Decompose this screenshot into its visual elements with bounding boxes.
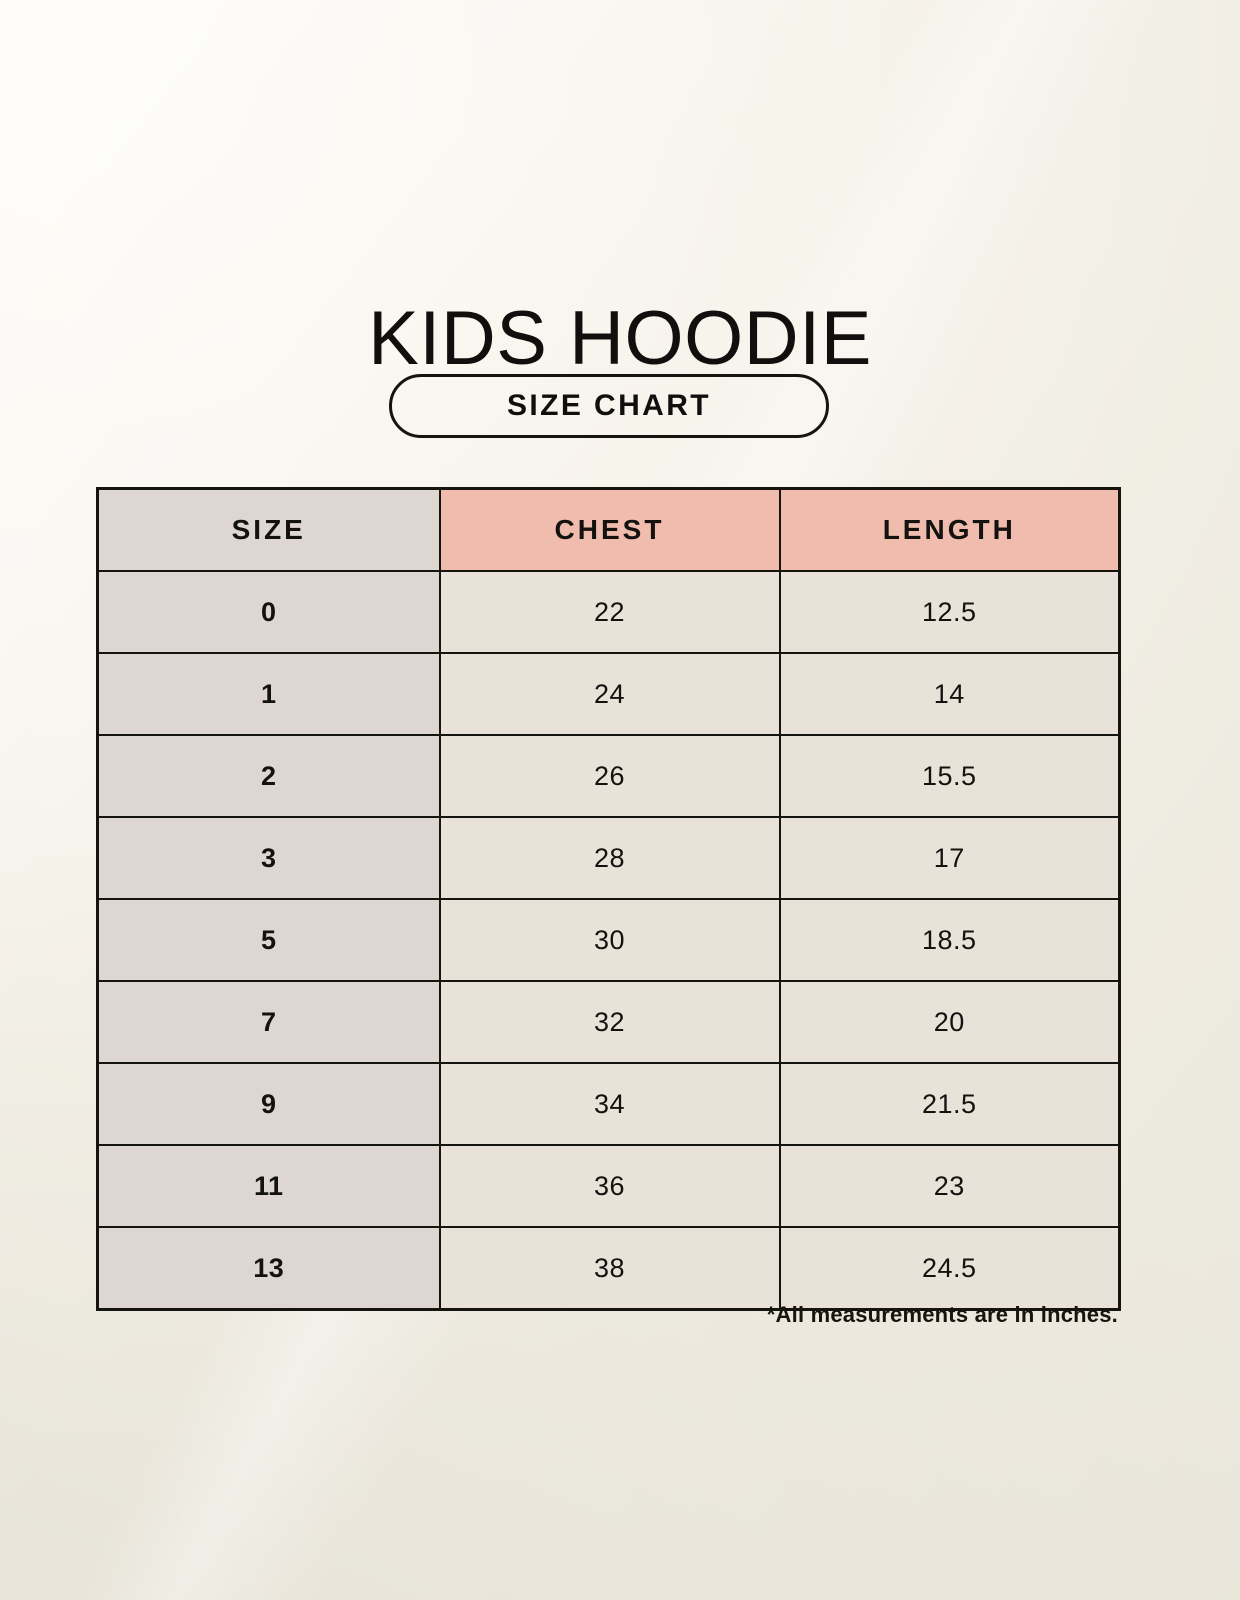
cell-length: 24.5	[780, 1227, 1120, 1310]
cell-chest: 32	[440, 981, 780, 1063]
measurement-unit-footnote: *All measurements are in inches.	[96, 1302, 1118, 1328]
table-row: 2 26 15.5	[98, 735, 1120, 817]
cell-chest: 24	[440, 653, 780, 735]
table-row: 0 22 12.5	[98, 571, 1120, 653]
cell-size: 7	[98, 981, 440, 1063]
cell-chest: 34	[440, 1063, 780, 1145]
column-header-size: SIZE	[98, 489, 440, 572]
cell-chest: 36	[440, 1145, 780, 1227]
cell-size: 5	[98, 899, 440, 981]
table-row: 3 28 17	[98, 817, 1120, 899]
cell-length: 21.5	[780, 1063, 1120, 1145]
size-table-header: SIZE CHEST LENGTH	[98, 489, 1120, 572]
cell-chest: 28	[440, 817, 780, 899]
cell-length: 14	[780, 653, 1120, 735]
cell-length: 23	[780, 1145, 1120, 1227]
cell-size: 2	[98, 735, 440, 817]
table-row: 9 34 21.5	[98, 1063, 1120, 1145]
cell-chest: 30	[440, 899, 780, 981]
cell-length: 18.5	[780, 899, 1120, 981]
size-chart-pill-label: SIZE CHART	[507, 389, 711, 423]
page-title: KIDS HOODIE	[0, 295, 1240, 383]
cell-length: 15.5	[780, 735, 1120, 817]
column-header-length: LENGTH	[780, 489, 1120, 572]
cell-chest: 26	[440, 735, 780, 817]
size-table-body: 0 22 12.5 1 24 14 2 26 15.5 3 28 17	[98, 571, 1120, 1310]
cell-length: 20	[780, 981, 1120, 1063]
column-header-chest: CHEST	[440, 489, 780, 572]
cell-size: 1	[98, 653, 440, 735]
cell-chest: 22	[440, 571, 780, 653]
cell-size: 9	[98, 1063, 440, 1145]
table-header-row: SIZE CHEST LENGTH	[98, 489, 1120, 572]
cell-size: 3	[98, 817, 440, 899]
cell-size: 13	[98, 1227, 440, 1310]
cell-length: 17	[780, 817, 1120, 899]
table-row: 13 38 24.5	[98, 1227, 1120, 1310]
cell-size: 11	[98, 1145, 440, 1227]
cell-chest: 38	[440, 1227, 780, 1310]
table-row: 1 24 14	[98, 653, 1120, 735]
cell-size: 0	[98, 571, 440, 653]
size-table: SIZE CHEST LENGTH 0 22 12.5 1 24 14 2	[96, 487, 1121, 1311]
table-row: 7 32 20	[98, 981, 1120, 1063]
cell-length: 12.5	[780, 571, 1120, 653]
table-row: 5 30 18.5	[98, 899, 1120, 981]
table-row: 11 36 23	[98, 1145, 1120, 1227]
size-chart-page: KIDS HOODIE SIZE CHART SIZE CHEST LENGTH…	[0, 0, 1240, 1600]
size-chart-pill: SIZE CHART	[389, 374, 829, 438]
size-table-container: SIZE CHEST LENGTH 0 22 12.5 1 24 14 2	[96, 487, 1118, 1311]
